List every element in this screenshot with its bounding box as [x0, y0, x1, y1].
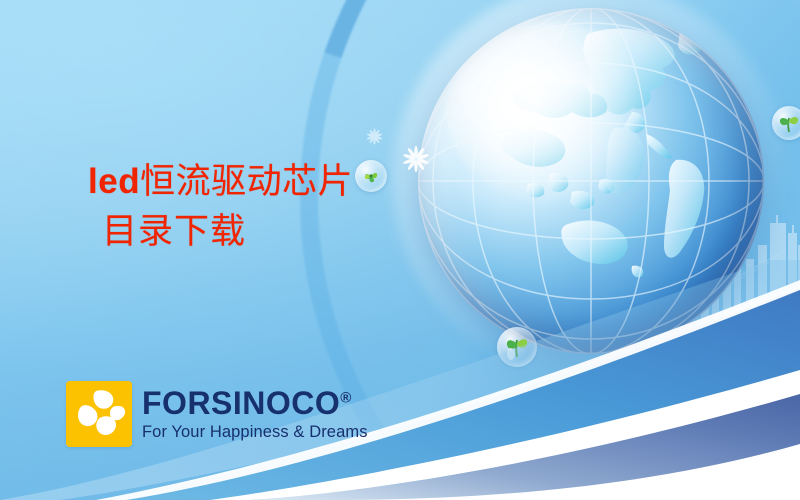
green-leaf-icon: [772, 106, 800, 140]
company-logo[interactable]: FORSINOCO® For Your Happiness & Dreams: [66, 381, 368, 447]
green-pinwheel-icon: [355, 160, 387, 192]
logo-tagline: For Your Happiness & Dreams: [142, 424, 368, 441]
white-flower-small-icon: [366, 128, 383, 145]
bubble-with-green-leaf: [772, 106, 800, 140]
headline-cjk: 恒流驱动芯片: [140, 162, 353, 202]
registered-trademark-icon: ®: [340, 390, 352, 407]
headline-line-1: led恒流驱动芯片: [88, 162, 353, 203]
white-flower-large-icon: [402, 145, 430, 173]
promotional-banner: led恒流驱动芯片 目录下载 FORSINOCO® For Your Happi…: [0, 0, 800, 500]
logo-company-name: FORSINOCO®: [142, 387, 368, 419]
logo-name-word: FORSINOCO: [142, 385, 340, 421]
headline-text: led恒流驱动芯片 目录下载: [88, 162, 353, 252]
logo-text-block: FORSINOCO® For Your Happiness & Dreams: [142, 387, 368, 441]
headline-latin: led: [88, 162, 140, 201]
bubble-with-green-pinwheel: [355, 160, 387, 192]
forsinoco-pinwheel-mark-icon: [66, 381, 132, 447]
bottom-swoosh-bands: [0, 260, 800, 500]
headline-line-2: 目录下载: [102, 212, 353, 253]
